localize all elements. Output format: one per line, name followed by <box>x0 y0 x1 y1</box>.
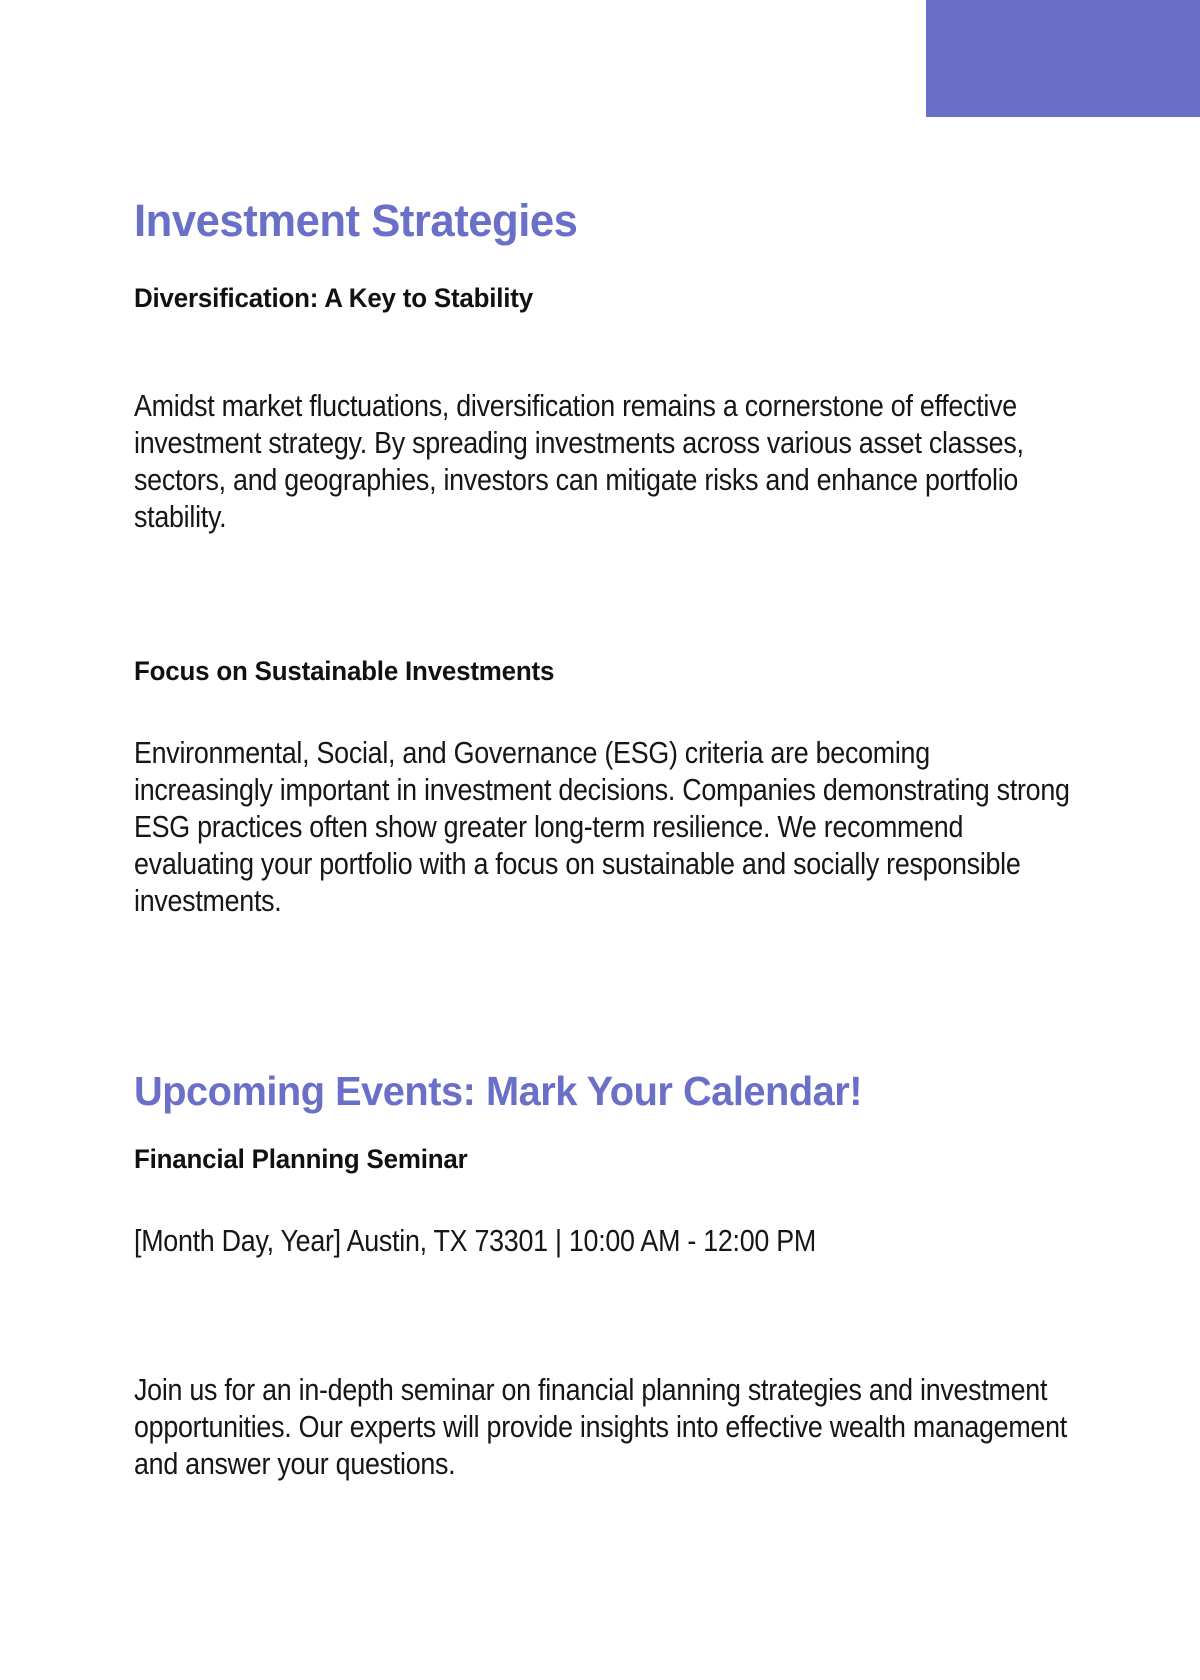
spacer <box>134 1175 1070 1223</box>
spacer <box>134 921 1070 1071</box>
spacer <box>134 536 1070 656</box>
spacer <box>134 1260 1070 1372</box>
spacer <box>134 687 1070 735</box>
paragraph-diversification: Amidst market fluctuations, diversificat… <box>134 388 1076 536</box>
page-title-investment-strategies: Investment Strategies <box>134 198 1042 243</box>
subheading-financial-planning-seminar: Financial Planning Seminar <box>134 1144 1033 1175</box>
document-page: Investment Strategies Diversification: A… <box>0 0 1200 1680</box>
paragraph-sustainable-investments: Environmental, Social, and Governance (E… <box>134 735 1076 920</box>
spacer <box>134 314 1070 388</box>
subheading-sustainable-investments: Focus on Sustainable Investments <box>134 656 1033 687</box>
event-details-line: [Month Day, Year] Austin, TX 73301 | 10:… <box>134 1223 958 1260</box>
paragraph-seminar-description: Join us for an in-depth seminar on finan… <box>134 1372 1076 1483</box>
page-title-upcoming-events: Upcoming Events: Mark Your Calendar! <box>134 1071 1042 1112</box>
subheading-diversification: Diversification: A Key to Stability <box>134 283 1033 314</box>
